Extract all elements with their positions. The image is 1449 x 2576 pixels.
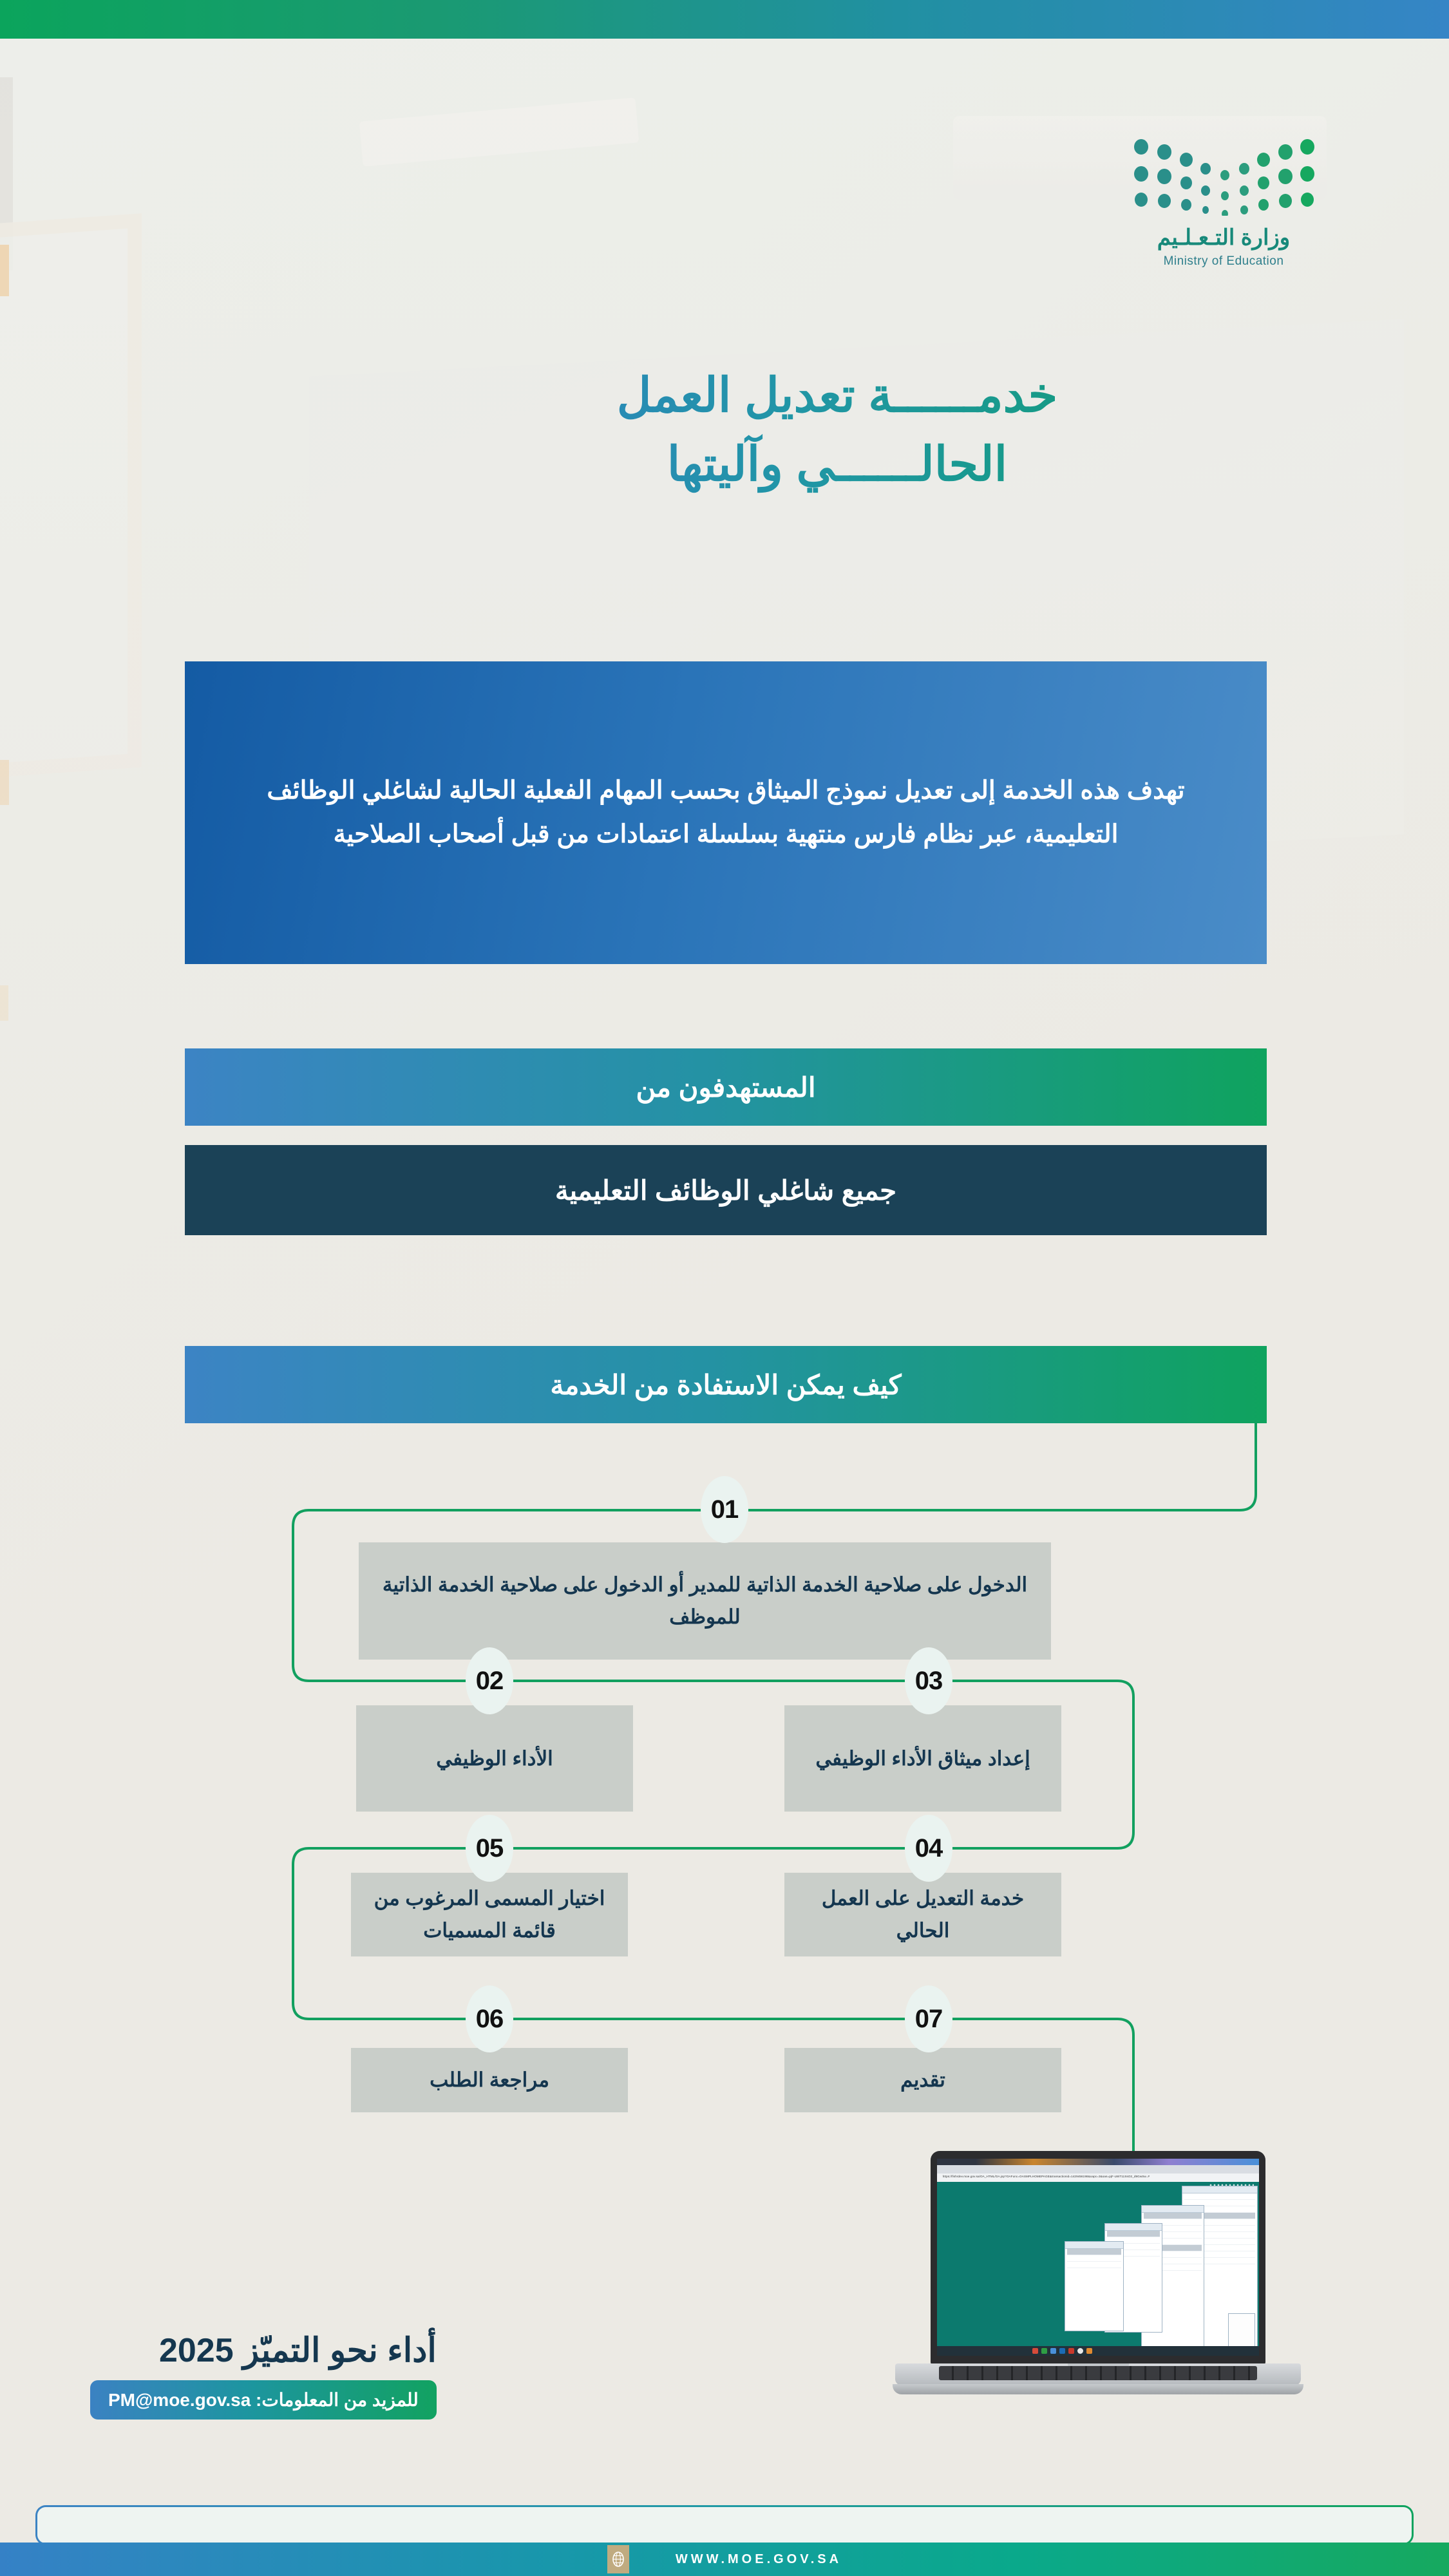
footer-bar: WWW.MOE.GOV.SA bbox=[0, 2543, 1449, 2576]
step-text-03: إعداد ميثاق الأداء الوظيفي bbox=[800, 1743, 1045, 1775]
taskbar-icon-chrome bbox=[1077, 2348, 1083, 2354]
laptop-screen: https://fishrdev.moe.gov.sa/OA_HTML/OA.j… bbox=[937, 2159, 1259, 2356]
taskbar-icon-3 bbox=[1050, 2348, 1056, 2354]
step-text-06: مراجعة الطلب bbox=[414, 2064, 565, 2096]
browser-tabstrip bbox=[937, 2159, 1259, 2165]
step-text-07: تقديم bbox=[885, 2064, 961, 2096]
service-description-text: تهدف هذه الخدمة إلى تعديل نموذج الميثاق … bbox=[185, 769, 1267, 857]
step-text-04: خدمة التعديل على العمل الحالي bbox=[784, 1882, 1061, 1946]
step-number-04: 04 bbox=[915, 1834, 943, 1863]
step-box-03[interactable]: إعداد ميثاق الأداء الوظيفي bbox=[784, 1705, 1061, 1812]
accent-strip-2 bbox=[0, 760, 9, 805]
step-number-07: 07 bbox=[915, 2005, 943, 2034]
step-number-02: 02 bbox=[476, 1667, 504, 1696]
step-text-02: الأداء الوظيفي bbox=[421, 1743, 569, 1775]
audience-section-header: المستهدفون من bbox=[185, 1048, 1267, 1126]
step-number-06: 06 bbox=[476, 2005, 504, 2034]
signature-title: أداء نحو التميّز 2025 bbox=[90, 2331, 437, 2370]
taskbar-icon-4 bbox=[1059, 2348, 1065, 2354]
taskbar-icon-6 bbox=[1086, 2348, 1092, 2354]
audience-value-label: جميع شاغلي الوظائف التعليمية bbox=[555, 1175, 896, 1206]
contact-badge[interactable]: للمزيد من المعلومات: PM@moe.gov.sa bbox=[90, 2380, 437, 2420]
browser-tabbar bbox=[937, 2165, 1259, 2173]
window-frame-shape bbox=[0, 213, 142, 778]
step-badge-07: 07 bbox=[905, 1985, 952, 2052]
step-box-06[interactable]: مراجعة الطلب bbox=[351, 2048, 628, 2112]
ceiling-lamp-shape bbox=[359, 97, 639, 166]
top-gradient-bar bbox=[0, 0, 1449, 39]
howto-header-label: كيف يمكن الاستفادة من الخدمة bbox=[550, 1369, 901, 1401]
howto-section-header: كيف يمكن الاستفادة من الخدمة bbox=[185, 1346, 1267, 1423]
laptop-keyboard bbox=[939, 2366, 1257, 2380]
step-badge-05: 05 bbox=[466, 1815, 513, 1882]
globe-icon bbox=[607, 2545, 629, 2573]
taskbar-icon-5 bbox=[1068, 2348, 1074, 2354]
bottom-frame-border bbox=[35, 2505, 1414, 2545]
logo-english-text: Ministry of Education bbox=[1121, 254, 1327, 269]
step-text-05: اختيار المسمى المرغوب من قائمة المسميات bbox=[351, 1882, 628, 1946]
taskbar-icon-2 bbox=[1041, 2348, 1047, 2354]
audience-value-box: جميع شاغلي الوظائف التعليمية bbox=[185, 1145, 1267, 1235]
windows-taskbar bbox=[937, 2346, 1259, 2356]
logo-arabic-text: وزارة التـعـلـيم bbox=[1121, 225, 1327, 251]
step-badge-01: 01 bbox=[701, 1476, 748, 1543]
step-badge-06: 06 bbox=[466, 1985, 513, 2052]
step-box-05[interactable]: اختيار المسمى المرغوب من قائمة المسميات bbox=[351, 1873, 628, 1956]
laptop-lid: https://fishrdev.moe.gov.sa/OA_HTML/OA.j… bbox=[931, 2151, 1265, 2365]
wall-panel-shape bbox=[0, 77, 13, 270]
page-title-line1: خدمــــــة تعديل العمل bbox=[419, 361, 1256, 430]
step-number-03: 03 bbox=[915, 1667, 943, 1696]
step-badge-04: 04 bbox=[905, 1815, 952, 1882]
step-box-01[interactable]: الدخول على صلاحية الخدمة الذاتية للمدير … bbox=[359, 1542, 1051, 1660]
service-description-box: تهدف هذه الخدمة إلى تعديل نموذج الميثاق … bbox=[185, 661, 1267, 964]
signature-block: أداء نحو التميّز 2025 للمزيد من المعلوما… bbox=[90, 2331, 437, 2420]
audience-header-label: المستهدفون من bbox=[636, 1072, 815, 1103]
step-number-01: 01 bbox=[711, 1495, 739, 1524]
step-box-04[interactable]: خدمة التعديل على العمل الحالي bbox=[784, 1873, 1061, 1956]
laptop-front-edge bbox=[893, 2384, 1303, 2394]
page-title: خدمــــــة تعديل العمل الحالــــــي وآلي… bbox=[419, 361, 1256, 499]
accent-strip-1 bbox=[0, 245, 9, 296]
laptop-mockup: https://fishrdev.moe.gov.sa/OA_HTML/OA.j… bbox=[895, 2151, 1301, 2441]
browser-url-text: https://fishrdev.moe.gov.sa/OA_HTML/OA.j… bbox=[943, 2175, 1150, 2178]
ministry-logo: وزارة التـعـلـيم Ministry of Education bbox=[1121, 135, 1327, 269]
step-box-07[interactable]: تقديم bbox=[784, 2048, 1061, 2112]
moe-palm-dots-icon bbox=[1127, 135, 1320, 216]
footer-url[interactable]: WWW.MOE.GOV.SA bbox=[676, 2552, 842, 2567]
step-text-01: الدخول على صلاحية الخدمة الذاتية للمدير … bbox=[359, 1569, 1051, 1633]
step-box-02[interactable]: الأداء الوظيفي bbox=[356, 1705, 633, 1812]
taskbar-icon-1 bbox=[1032, 2348, 1038, 2354]
page-title-line2: الحالــــــي وآليتها bbox=[419, 430, 1256, 498]
step-badge-03: 03 bbox=[905, 1647, 952, 1714]
step-number-05: 05 bbox=[476, 1834, 504, 1863]
step-badge-02: 02 bbox=[466, 1647, 513, 1714]
accent-strip-3 bbox=[0, 985, 8, 1021]
faris-menu-panel-4 bbox=[1065, 2241, 1124, 2331]
